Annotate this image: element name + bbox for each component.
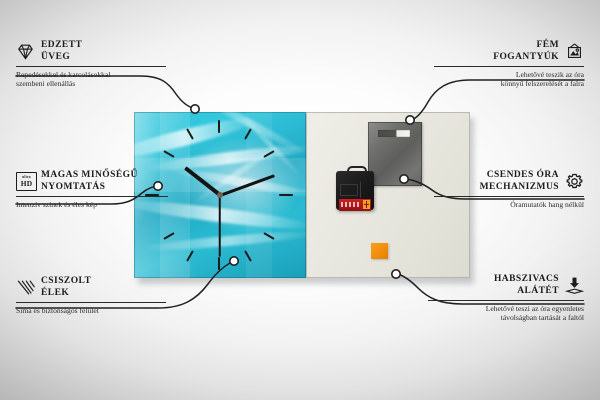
foam-pad xyxy=(371,243,388,259)
feature-subtitle-line1: Intenzív színek és éles kép xyxy=(16,200,168,209)
feature-title-line2: NYOMTATÁS xyxy=(41,182,138,194)
feature-title-line1: MAGAS MINŐSÉGŰ xyxy=(41,170,138,182)
ultra-hd-icon: ultra HD xyxy=(16,172,35,191)
mechanism-seam xyxy=(340,184,358,196)
feature-subtitle-line1: Lehetővé teszi az óra egyenletes xyxy=(428,304,584,313)
divider xyxy=(434,196,584,197)
divider xyxy=(434,66,584,67)
battery xyxy=(339,199,371,211)
feature-subtitle-line1: Óramutatók hang nélkül xyxy=(434,200,584,209)
hanger-slot xyxy=(378,130,410,137)
feature-heading: EDZETT ÜVEG xyxy=(16,40,166,63)
feature-metal-handles: FÉM FOGANTYÚK Lehetővé teszik az óra kön… xyxy=(434,40,584,88)
feature-title-line1: CSISZOLT xyxy=(41,276,91,288)
feature-title-line1: FÉM xyxy=(493,40,559,52)
feature-heading: ultra HD MAGAS MINŐSÉGŰ NYOMTATÁS xyxy=(16,170,168,193)
polished-edges-icon xyxy=(16,278,35,297)
feature-title-line2: ÉLEK xyxy=(41,288,91,300)
feature-heading: FÉM FOGANTYÚK xyxy=(434,40,584,63)
divider xyxy=(16,196,168,197)
feature-subtitle-line2: könnyű felszerelését a falra xyxy=(434,79,584,88)
feature-title-line1: EDZETT xyxy=(41,40,82,52)
feature-tempered-glass: EDZETT ÜVEG Repedésekkel és karcolásokka… xyxy=(16,40,166,88)
feature-foam-pad: HABSZIVACS ALÁTÉT Lehetővé teszi az óra … xyxy=(428,274,584,322)
mechanism-body xyxy=(336,171,374,210)
feature-polished-edges: CSISZOLT ÉLEK Sima és biztonságos felüle… xyxy=(16,276,166,315)
gear-icon xyxy=(565,172,584,191)
divider xyxy=(16,66,166,67)
feature-subtitle-line1: Lehetővé teszik az óra xyxy=(434,70,584,79)
clock-second-hand xyxy=(219,195,221,257)
feature-high-quality-print: ultra HD MAGAS MINŐSÉGŰ NYOMTATÁS Intenz… xyxy=(16,170,168,209)
feature-subtitle-line1: Repedésekkel és karcolásokkal xyxy=(16,70,166,79)
feature-title-line2: FOGANTYÚK xyxy=(493,52,559,64)
divider xyxy=(428,300,584,301)
battery-label xyxy=(341,202,361,207)
feature-subtitle-line1: Sima és biztonságos felület xyxy=(16,306,166,315)
feature-title-line2: ÜVEG xyxy=(41,52,82,64)
feature-heading: CSISZOLT ÉLEK xyxy=(16,276,166,299)
feature-heading: HABSZIVACS ALÁTÉT xyxy=(428,274,584,297)
hanging-picture-icon xyxy=(565,42,584,61)
ultra-hd-icon-big-label: HD xyxy=(21,180,33,187)
feature-title-line1: HABSZIVACS xyxy=(494,274,559,286)
feature-heading: CSENDES ÓRA MECHANIZMUS xyxy=(434,170,584,193)
metal-hanger-plate xyxy=(368,122,422,186)
feature-subtitle-line2: távolságban tartását a faltól xyxy=(428,313,584,322)
feature-silent-mechanism: CSENDES ÓRA MECHANIZMUS Óramutatók hang … xyxy=(434,170,584,209)
clock-tick xyxy=(218,257,220,270)
feature-title-line2: MECHANIZMUS xyxy=(480,182,559,194)
feature-subtitle-line2: szembeni ellenállás xyxy=(16,79,166,88)
infographic-canvas: EDZETT ÜVEG Repedésekkel és karcolásokka… xyxy=(0,0,600,400)
clock-center-cap xyxy=(217,192,223,198)
clock-tick xyxy=(218,120,220,133)
feature-title-line1: CSENDES ÓRA xyxy=(480,170,559,182)
product-photo xyxy=(134,112,470,280)
battery-plus-terminal xyxy=(363,200,370,209)
diamond-icon xyxy=(16,42,35,61)
mechanism-seam-line xyxy=(360,182,361,198)
silent-clock-mechanism xyxy=(336,166,374,210)
feature-title-line2: ALÁTÉT xyxy=(494,286,559,298)
foam-pad-icon xyxy=(565,276,584,295)
divider xyxy=(16,302,166,303)
clock-tick xyxy=(279,194,293,196)
